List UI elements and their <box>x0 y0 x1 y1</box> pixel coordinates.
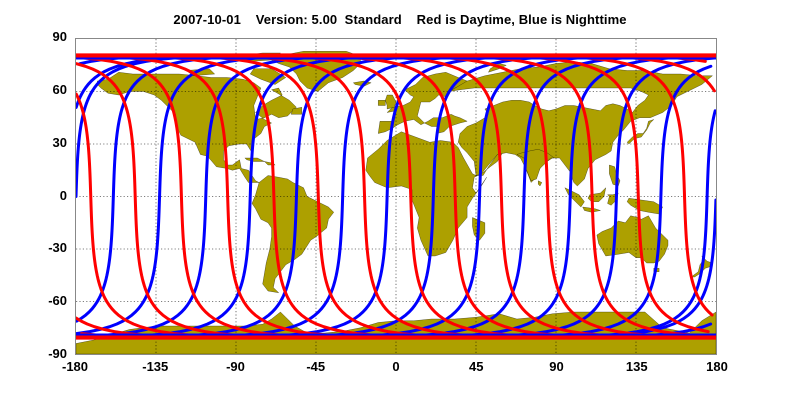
x-tick-label: -135 <box>125 359 185 374</box>
x-tick-label: -180 <box>45 359 105 374</box>
x-tick-label: 135 <box>607 359 667 374</box>
x-tick-label: 180 <box>687 359 747 374</box>
ground-track-map: 2007-10-01 Version: 5.00 Standard Red is… <box>0 0 800 400</box>
x-axis: -180-135-90-4504590135180 <box>0 0 800 400</box>
x-tick-label: 90 <box>527 359 587 374</box>
x-tick-label: 45 <box>446 359 506 374</box>
x-tick-label: -90 <box>206 359 266 374</box>
x-tick-label: -45 <box>286 359 346 374</box>
x-tick-label: 0 <box>366 359 426 374</box>
